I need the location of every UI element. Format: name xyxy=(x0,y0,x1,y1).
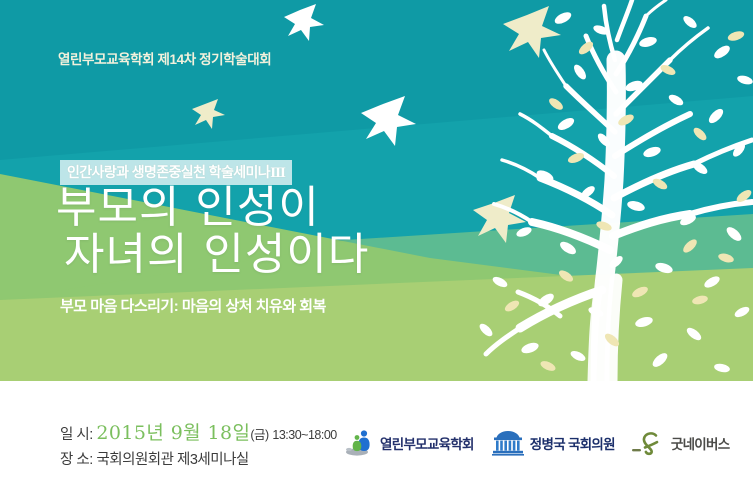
date-label: 일 시: xyxy=(60,427,93,443)
seminar-series-label: 인간사랑과 생명존중실천 학술세미나 xyxy=(67,164,270,180)
parent-education-people-icon xyxy=(345,428,375,458)
conference-header-text: 열린부모교육학회 제14차 정기학술대회 xyxy=(58,48,271,68)
poster-text-layer: 열린부모교육학회 제14차 정기학술대회 인간사랑과 생명존중실천 학술세미나Ⅲ… xyxy=(0,0,753,502)
date-time: 13:30~18:00 xyxy=(272,428,336,442)
sponsor-logo-row: 열린부모교육학회 xyxy=(345,428,729,458)
logo-label-good-neighbors: 굿네이버스 xyxy=(671,433,730,453)
logo-label-open-parent-education-society: 열린부모교육학회 xyxy=(380,433,474,453)
logo-good-neighbors: 굿네이버스 xyxy=(632,430,730,456)
event-date-row: 일 시: 2015년 9월 18일(금) 13:30~18:00 xyxy=(60,418,337,448)
good-neighbors-ampersand-icon xyxy=(632,430,666,456)
place-value: 국회의원회관 제3세미나실 xyxy=(96,452,248,468)
page-title: 부모의 인성이 자녀의 인성이다 xyxy=(56,184,369,278)
date-weekday: (금) xyxy=(250,428,268,442)
logo-label-assemblyman-jung-byung-gook: 정병국 국회의원 xyxy=(530,433,615,453)
event-place-row: 장 소: 국회의원회관 제3세미나실 xyxy=(60,448,337,472)
place-label: 장 소: xyxy=(60,452,93,468)
logo-open-parent-education-society: 열린부모교육학회 xyxy=(345,428,474,458)
logo-assemblyman-jung-byung-gook: 정병국 국회의원 xyxy=(491,430,615,456)
title-line-2: 자녀의 인성이다 xyxy=(56,231,369,278)
seminar-series-number: Ⅲ xyxy=(270,166,285,181)
national-assembly-building-icon xyxy=(491,430,525,456)
date-value: 2015년 9월 18일 xyxy=(96,422,250,444)
title-line-1: 부모의 인성이 xyxy=(56,182,320,233)
event-info-block: 일 시: 2015년 9월 18일(금) 13:30~18:00 장 소: 국회… xyxy=(60,418,337,472)
poster-subtitle: 부모 마음 다스리기: 마음의 상처 치유와 회복 xyxy=(60,295,326,316)
conference-poster: 열린부모교육학회 제14차 정기학술대회 인간사랑과 생명존중실천 학술세미나Ⅲ… xyxy=(0,0,753,502)
